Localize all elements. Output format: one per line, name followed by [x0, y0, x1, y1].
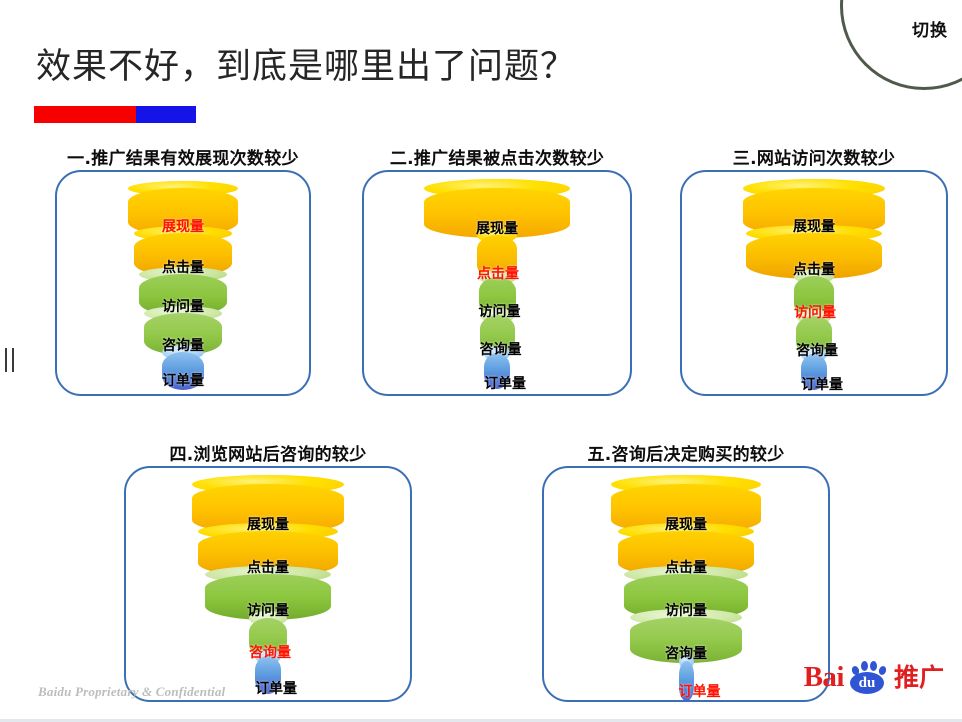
stage-label: 展现量	[611, 518, 761, 532]
edge-marker	[5, 348, 14, 372]
stage-label: 咨询量	[249, 646, 287, 660]
funnel-5-stage-clicks: 点击量	[618, 531, 754, 577]
funnel-panel-4[interactable]: 四.浏览网站后咨询的较少 展现量 点击量 访问量	[124, 440, 412, 702]
funnel-4-stage-visits: 访问量	[205, 574, 331, 620]
funnel-panel-5-title: 五.咨询后决定购买的较少	[587, 440, 784, 465]
baidu-logo-du-text: du	[850, 672, 884, 694]
switch-arc-decoration	[840, 0, 962, 90]
funnel-panel-1-box: 展现量 点击量 访问量 咨询量	[55, 170, 311, 396]
funnel-2: 展现量 点击量 访问量 咨询量	[364, 188, 630, 389]
stage-label: 订单量	[679, 685, 694, 699]
funnel-2-stage-impressions: 展现量	[424, 188, 570, 238]
funnel-3: 展现量 点击量 访问量 咨询量	[682, 188, 946, 390]
funnel-1: 展现量 点击量 访问量 咨询量	[57, 188, 309, 390]
funnel-panel-2-title: 二.推广结果被点击次数较少	[390, 144, 604, 169]
funnel-3-stage-consults: 咨询量	[796, 316, 832, 356]
funnel-3-stage-orders: 订单量	[801, 354, 827, 390]
funnel-panel-4-title: 四.浏览网站后咨询的较少	[169, 440, 366, 465]
stage-label: 展现量	[192, 518, 344, 532]
stage-label: 订单量	[484, 377, 510, 391]
accent-bar-red-segment	[34, 106, 136, 123]
funnel-panel-4-box: 展现量 点击量 访问量 咨询量	[124, 466, 412, 702]
funnel-4-stage-clicks: 点击量	[198, 531, 338, 577]
funnel-5: 展现量 点击量 访问量 咨询量	[544, 484, 828, 701]
funnel-3-stage-clicks: 点击量	[746, 233, 882, 279]
paw-toe-2	[861, 661, 868, 671]
funnel-1-stage-consults: 咨询量	[144, 313, 222, 355]
funnel-2-stage-visits: 访问量	[479, 277, 516, 317]
funnel-panel-3[interactable]: 三.网站访问次数较少 展现量 点击量 访问量	[680, 144, 948, 396]
funnel-5-stage-consults: 咨询量	[630, 617, 742, 663]
slide-canvas: 切换 效果不好，到底是哪里出了问题？ 一.推广结果有效展现次数较少 展现量 点击…	[0, 0, 962, 722]
funnel-panel-5[interactable]: 五.咨询后决定购买的较少 展现量 点击量 访问量	[542, 440, 830, 702]
funnel-1-stage-orders: 订单量	[162, 352, 204, 390]
funnel-panel-1[interactable]: 一.推广结果有效展现次数较少 展现量 点击量 访问量	[55, 144, 311, 396]
baidu-logo-tuiguang-text: 推广	[894, 665, 944, 690]
stage-label: 订单量	[162, 374, 204, 388]
stage-label: 点击量	[134, 261, 232, 275]
funnel-4-stage-impressions: 展现量	[192, 484, 344, 534]
funnel-5-stage-visits: 访问量	[624, 574, 748, 620]
stage-label: 订单量	[255, 682, 281, 696]
confidential-footer: Baidu Proprietary & Confidential	[38, 684, 225, 700]
funnel-panel-3-box: 展现量 点击量 访问量 咨询量	[680, 170, 948, 396]
funnel-3-stage-impressions: 展现量	[743, 188, 885, 236]
funnel-5-stage-orders: 订单量	[679, 661, 694, 701]
page-title: 效果不好，到底是哪里出了问题？	[36, 38, 576, 89]
funnel-panel-5-box: 展现量 点击量 访问量 咨询量	[542, 466, 830, 702]
stage-label: 展现量	[424, 222, 570, 236]
stage-label: 咨询量	[796, 344, 832, 358]
funnel-panel-1-title: 一.推广结果有效展现次数较少	[67, 144, 299, 169]
stage-label: 点击量	[746, 263, 882, 277]
stage-label: 咨询量	[480, 343, 515, 357]
funnel-1-stage-visits: 访问量	[139, 274, 227, 316]
funnel-2-stage-orders: 订单量	[484, 353, 510, 389]
accent-bar-blue-segment	[136, 106, 196, 123]
stage-label: 咨询量	[630, 647, 742, 661]
funnel-1-stage-impressions: 展现量	[128, 188, 238, 236]
funnel-3-stage-visits: 访问量	[794, 276, 834, 318]
stage-label: 访问量	[794, 306, 834, 320]
paw-print-icon: du	[846, 660, 890, 694]
funnel-4: 展现量 点击量 访问量 咨询量	[126, 484, 410, 694]
stage-label: 咨询量	[144, 339, 222, 353]
stage-label: 点击量	[618, 561, 754, 575]
stage-label: 访问量	[205, 604, 331, 618]
paw-toe-3	[870, 661, 877, 671]
funnel-2-stage-consults: 咨询量	[480, 315, 515, 355]
funnel-1-stage-clicks: 点击量	[134, 233, 232, 277]
stage-label: 访问量	[139, 300, 227, 314]
accent-bar	[34, 106, 196, 123]
stage-label: 访问量	[479, 305, 516, 319]
stage-label: 订单量	[801, 378, 827, 392]
funnel-panel-2-box: 展现量 点击量 访问量 咨询量	[362, 170, 632, 396]
funnel-4-stage-orders: 订单量	[255, 656, 281, 694]
stage-label: 展现量	[743, 220, 885, 234]
stage-label: 点击量	[477, 267, 517, 281]
funnel-panel-2[interactable]: 二.推广结果被点击次数较少 展现量 点击量 访问量	[362, 144, 632, 396]
stage-label: 点击量	[198, 561, 338, 575]
stage-label: 展现量	[128, 220, 238, 234]
funnel-2-stage-clicks: 点击量	[477, 235, 517, 279]
funnel-4-stage-consults: 咨询量	[249, 618, 287, 658]
baidu-logo: Bai du 推广	[804, 660, 944, 694]
funnel-panel-3-title: 三.网站访问次数较少	[733, 144, 895, 169]
baidu-logo-bai-text: Bai	[804, 663, 844, 692]
stage-label: 访问量	[624, 604, 748, 618]
switch-button[interactable]: 切换	[912, 16, 948, 41]
funnel-5-stage-impressions: 展现量	[611, 484, 761, 534]
